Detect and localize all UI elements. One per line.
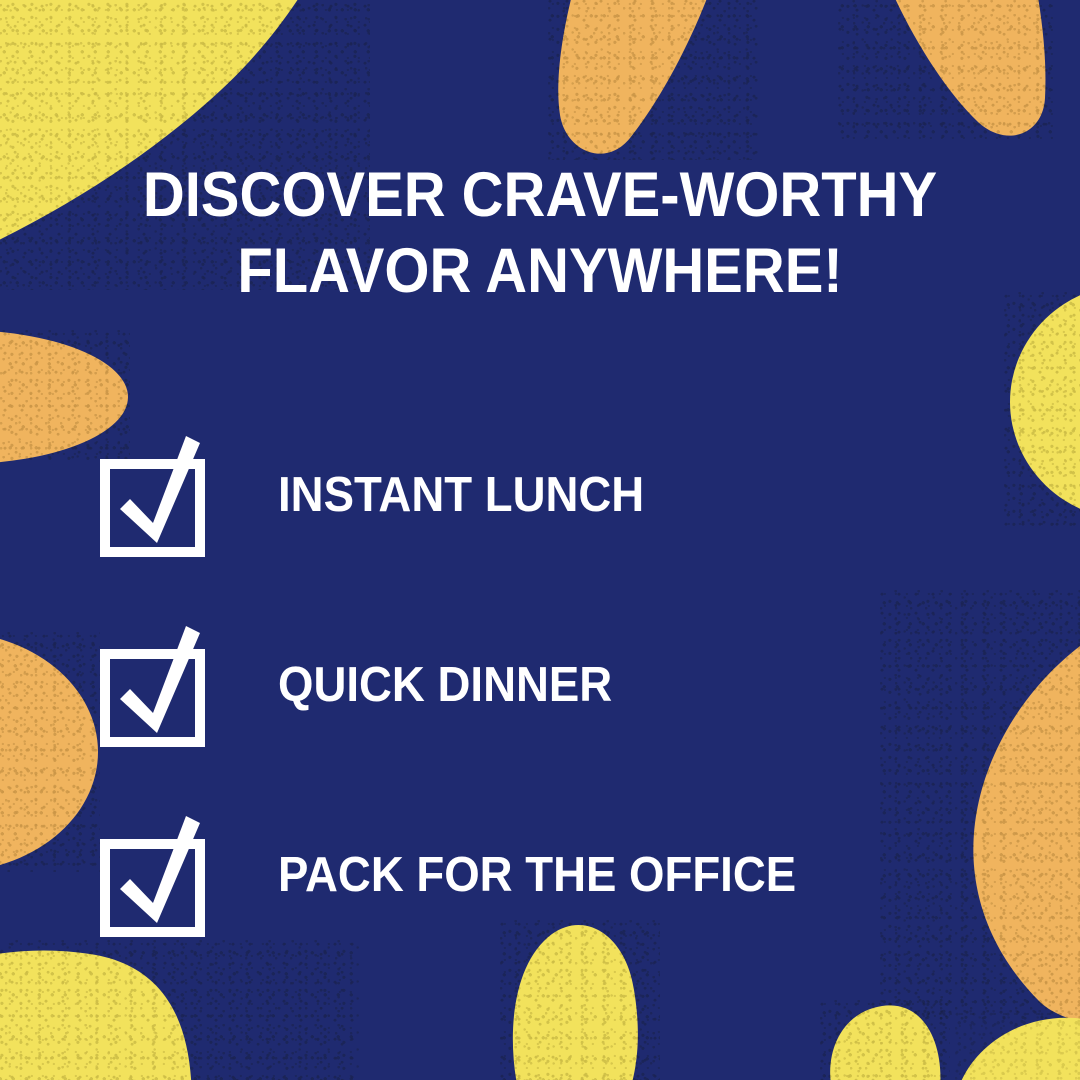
list-item: QUICK DINNER [0,588,1080,778]
checked-checkbox-icon [100,621,210,746]
yellow-blob-bottom-right [820,1000,950,1080]
page-title: DISCOVER CRAVE-WORTHY FLAVOR ANYWHERE! [43,157,1037,309]
headline-line-2: FLAVOR ANYWHERE! [43,233,1037,309]
list-item-label: PACK FOR THE OFFICE [278,847,796,900]
list-item-label: INSTANT LUNCH [278,467,644,520]
checked-checkbox-icon [100,431,210,556]
orange-petal-top-right [838,0,1053,140]
yellow-blob-bottom-corner [955,1010,1080,1080]
headline-line-1: DISCOVER CRAVE-WORTHY [43,157,1037,233]
list-item-label: QUICK DINNER [278,657,612,710]
checked-checkbox-icon [100,811,210,936]
promo-poster: DISCOVER CRAVE-WORTHY FLAVOR ANYWHERE! I… [0,0,1080,1080]
checklist: INSTANT LUNCH QUICK DINNER PACK FOR THE … [0,398,1080,968]
list-item: INSTANT LUNCH [0,398,1080,588]
orange-petal-top-center [548,0,758,160]
list-item: PACK FOR THE OFFICE [0,778,1080,968]
